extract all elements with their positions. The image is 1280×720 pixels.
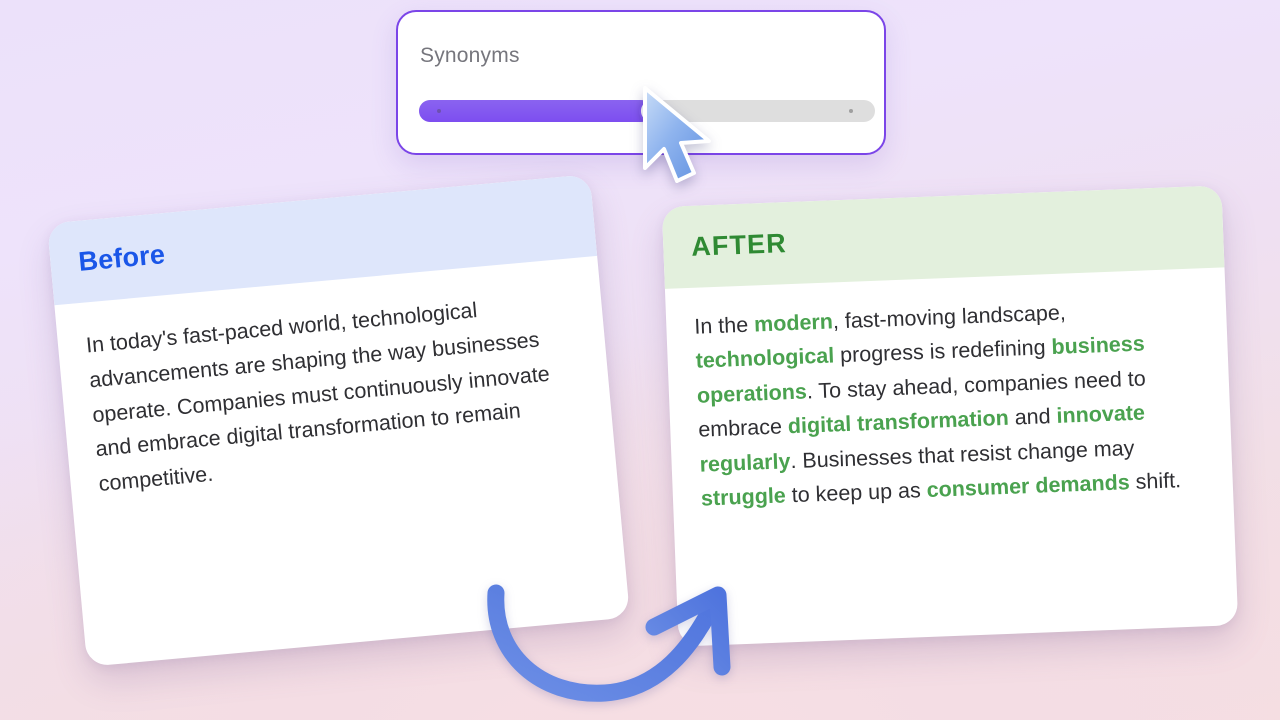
after-card-title: AFTER: [691, 228, 788, 263]
after-text-highlight: technological: [695, 344, 834, 373]
after-text-plain: . Businesses that resist change may: [790, 436, 1135, 473]
app-canvas: Synonyms Before In today's fast-p: [0, 0, 1280, 720]
after-text-highlight: digital transformation: [787, 406, 1009, 438]
after-text-highlight: consumer demands: [926, 470, 1130, 502]
after-text-plain: shift.: [1129, 468, 1181, 494]
slider-tick-max-icon: [849, 109, 853, 113]
after-text-highlight: struggle: [701, 483, 787, 510]
after-card: AFTER In the modern, fast-moving landsca…: [662, 185, 1238, 646]
after-text-plain: , fast-moving landscape,: [832, 300, 1066, 333]
after-text-highlight: modern: [754, 309, 834, 336]
synonyms-label: Synonyms: [420, 44, 520, 68]
after-text-plain: to keep up as: [785, 478, 927, 507]
after-text-plain: progress is redefining: [834, 335, 1052, 367]
slider-thumb[interactable]: [639, 98, 665, 124]
after-text-plain: In the: [694, 312, 755, 338]
slider-fill: [419, 100, 652, 122]
synonyms-slider[interactable]: [419, 100, 875, 122]
before-card: Before In today's fast-paced world, tech…: [47, 174, 630, 667]
after-text-plain: and: [1008, 404, 1057, 430]
before-card-title: Before: [77, 239, 166, 278]
after-card-body: In the modern, fast-moving landscape, te…: [665, 267, 1233, 517]
slider-tick-min-icon: [437, 109, 441, 113]
synonyms-slider-panel: Synonyms: [396, 10, 886, 155]
